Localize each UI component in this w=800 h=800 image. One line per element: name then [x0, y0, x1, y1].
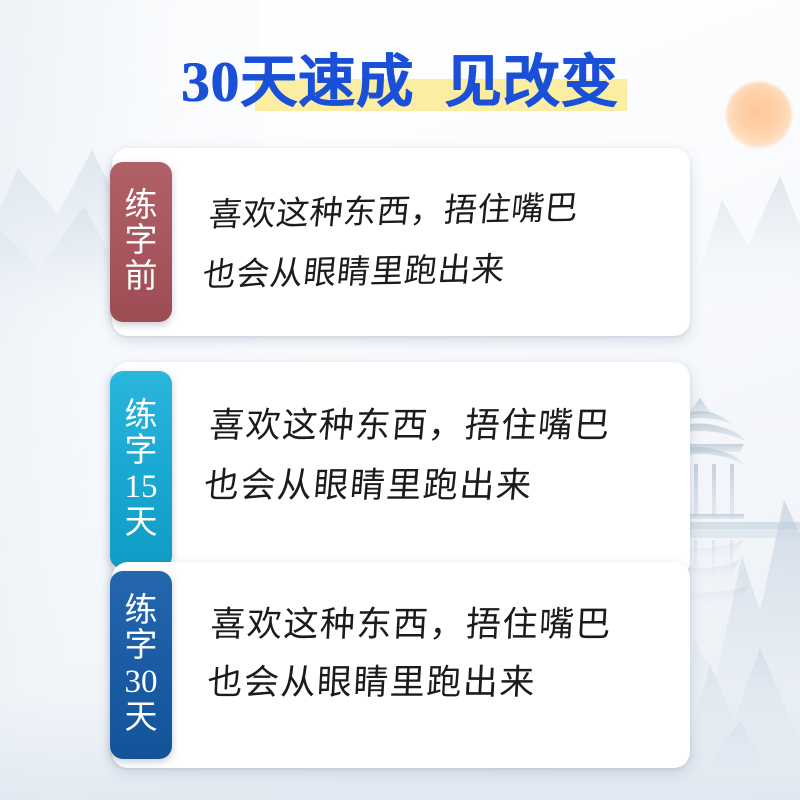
badge-line: 练	[125, 594, 158, 630]
badge-before-practice: 练 字 前	[110, 162, 172, 322]
badge-line: 天	[125, 506, 158, 542]
title-text: 30天速成 见改变	[181, 48, 619, 118]
badge-line: 字	[125, 434, 158, 470]
badge-practice-30-days: 练 字 30 天	[110, 571, 172, 759]
badge-line: 练	[125, 399, 158, 435]
handwriting-sample-15-days: 喜欢这种东西，捂住嘴巴 也会从眼睛里跑出来	[202, 396, 674, 516]
poster-root: 30天速成 见改变 练 字 前 喜欢这种东西，捂住嘴巴 也会从眼睛里跑出来 练 …	[0, 0, 800, 800]
badge-line: 字	[125, 224, 158, 260]
badge-line: 30	[125, 665, 158, 701]
badge-line: 前	[125, 260, 158, 296]
handwriting-sample-before: 喜欢这种东西，捂住嘴巴 也会从眼睛里跑出来	[200, 177, 675, 306]
badge-line: 15	[125, 470, 158, 506]
badge-line: 字	[125, 629, 158, 665]
handwriting-sample-30-days: 喜欢这种东西，捂住嘴巴 也会从眼睛里跑出来	[206, 596, 674, 712]
badge-line: 练	[125, 189, 158, 225]
badge-practice-15-days: 练 字 15 天	[110, 371, 172, 569]
mountains-right-top	[690, 176, 800, 300]
badge-line: 天	[125, 701, 158, 737]
page-title: 30天速成 见改变	[0, 48, 800, 120]
